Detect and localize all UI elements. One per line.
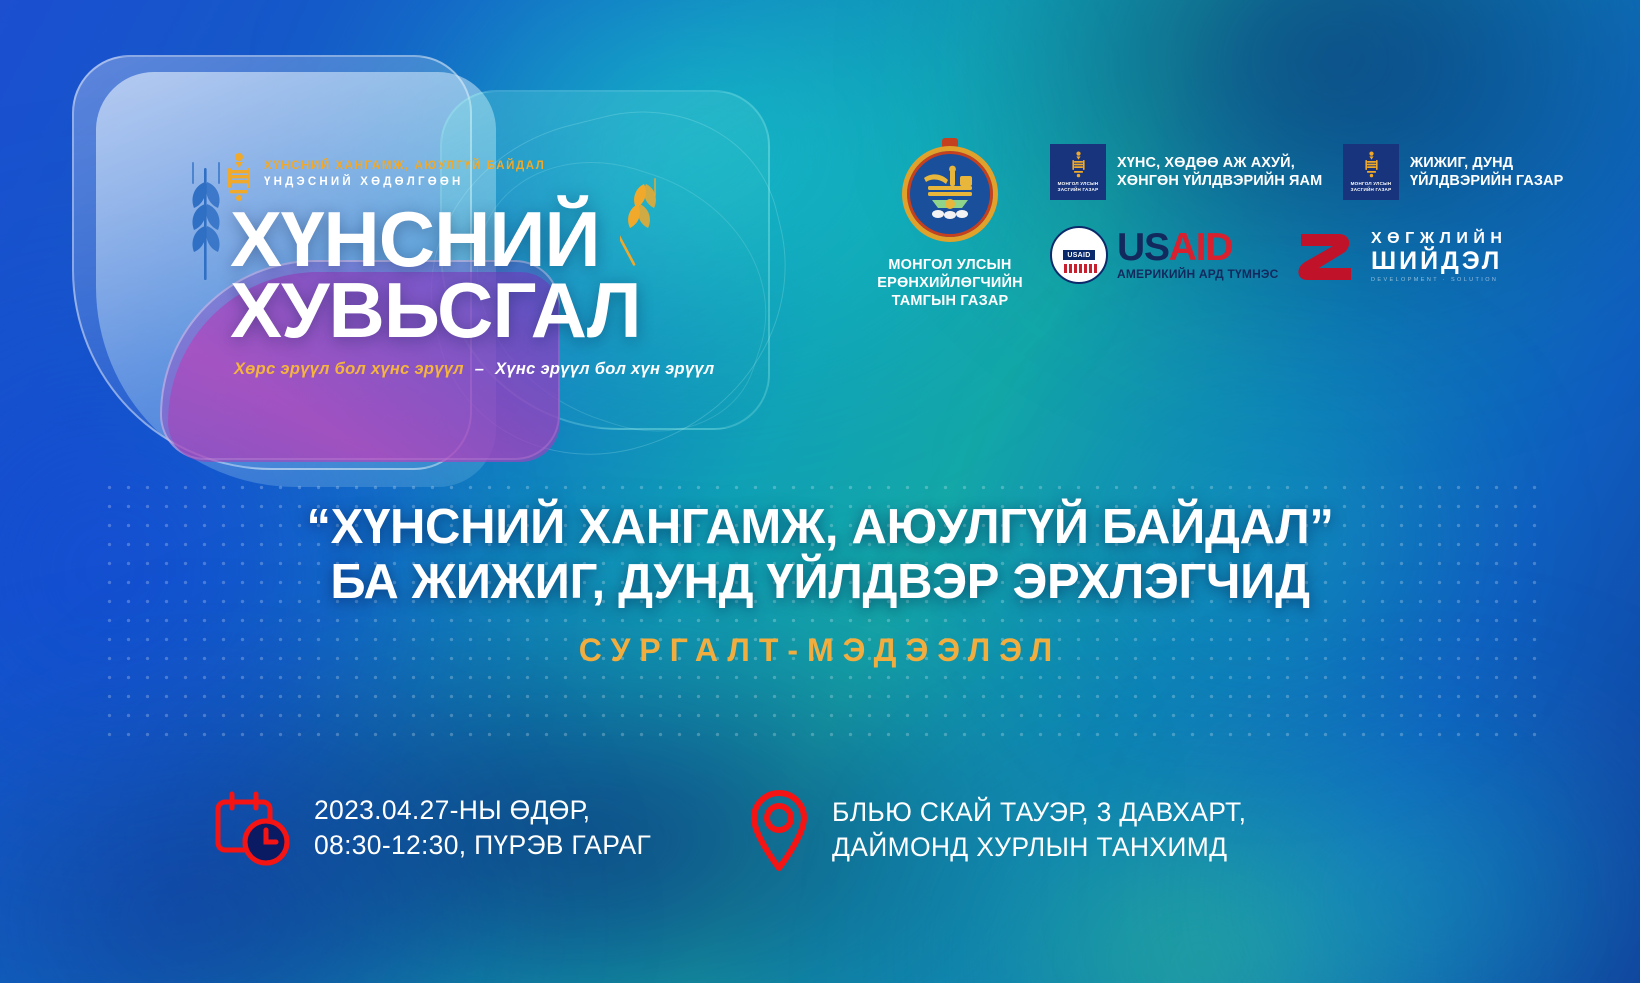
- development-solution-logo-icon: [1297, 228, 1363, 286]
- event-place-line-1: БЛЬЮ СКАЙ ТАУЭР, 3 ДАВХАРТ,: [832, 795, 1246, 830]
- usaid-seal-stripes: [1064, 264, 1098, 273]
- badge-text: МОНГОЛ УЛСЫН ЗАСГИЙН ГАЗАР: [1351, 181, 1392, 193]
- brand-logo-block: ХҮНСНИЙ ХАНГАМЖ, АЮУЛГҮЙ БАЙДАЛ ҮНДЭСНИЙ…: [182, 150, 702, 379]
- khogjliin-shiidel-text: ХӨГЖЛИЙН ШИЙДЭЛ DEVELOPMENT · SOLUTION: [1371, 231, 1507, 282]
- partner-ministry-food-agriculture: МОНГОЛ УЛСЫН ЗАСГИЙН ГАЗАР ХҮНС, ХӨДӨӨ А…: [1050, 144, 1322, 200]
- headline-block: “ХҮНСНИЙ ХАНГАМЖ, АЮУЛГҮЙ БАЙДАЛ” БА ЖИЖ…: [0, 500, 1640, 669]
- khog-line-2: ШИЙДЭЛ: [1371, 248, 1507, 274]
- partner-khogjliin-shiidel: ХӨГЖЛИЙН ШИЙДЭЛ DEVELOPMENT · SOLUTION: [1297, 228, 1507, 286]
- partner-label: ЖИЖИГ, ДУНД ҮЙЛДВЭРИЙН ГАЗАР: [1410, 154, 1563, 191]
- partner-president-office: МОНГОЛ УЛСЫН ЕРӨНХИЙЛӨГЧИЙН ТАМГЫН ГАЗАР: [865, 138, 1035, 311]
- usaid-seal-text: USAID: [1063, 250, 1094, 260]
- partner-sme-agency: МОНГОЛ УЛСЫН ЗАСГИЙН ГАЗАР ЖИЖИГ, ДУНД Ү…: [1343, 144, 1563, 200]
- caption-line-2: ЕРӨНХИЙЛӨГЧИЙН: [865, 275, 1035, 293]
- event-place-text: БЛЬЮ СКАЙ ТАУЭР, 3 ДАВХАРТ, ДАЙМОНД ХУРЛ…: [832, 795, 1246, 865]
- badge-text: МОНГОЛ УЛСЫН ЗАСГИЙН ГАЗАР: [1058, 181, 1099, 193]
- usaid-word-aid: AID: [1169, 226, 1233, 269]
- usaid-word: USAID: [1117, 229, 1279, 266]
- event-poster: ХҮНСНИЙ ХАНГАМЖ, АЮУЛГҮЙ БАЙДАЛ ҮНДЭСНИЙ…: [0, 0, 1640, 983]
- map-pin-icon: [748, 788, 810, 872]
- event-place-line-2: ДАЙМОНД ХУРЛЫН ТАНХИМД: [832, 830, 1246, 865]
- partner-president-office-caption: МОНГОЛ УЛСЫН ЕРӨНХИЙЛӨГЧИЙН ТАМГЫН ГАЗАР: [865, 257, 1035, 311]
- usaid-word-us: US: [1117, 226, 1169, 269]
- slogan-gold-part: Хөрс эрүүл бол хүнс эрүүл: [234, 360, 464, 378]
- soyombo-icon: [226, 152, 252, 204]
- gold-wheat-icon: [620, 178, 666, 270]
- headline-line-2: БА ЖИЖИГ, ДУНД ҮЙЛДВЭР ЭРХЛЭГЧИД: [0, 555, 1640, 610]
- badge-line-2: ЗАСГИЙН ГАЗАР: [1351, 187, 1392, 193]
- government-badge-icon: МОНГОЛ УЛСЫН ЗАСГИЙН ГАЗАР: [1050, 144, 1106, 200]
- event-date-line-1: 2023.04.27-НЫ ӨДӨР,: [314, 793, 651, 828]
- brand-slogan: Хөрс эрүүл бол хүнс эрүүл – Хүнс эрүүл б…: [234, 360, 702, 379]
- movement-tagline-1: ХҮНСНИЙ ХАНГАМЖ, АЮУЛГҮЙ БАЙДАЛ: [264, 160, 545, 172]
- mongolia-state-emblem-icon: [902, 138, 998, 250]
- wheat-stalk-icon: [184, 160, 228, 285]
- khog-line-1: ХӨГЖЛИЙН: [1371, 231, 1507, 247]
- khog-line-3: DEVELOPMENT · SOLUTION: [1371, 277, 1507, 283]
- soyombo-icon: [1365, 151, 1378, 178]
- label-line-2: ҮЙЛДВЭРИЙН ГАЗАР: [1410, 172, 1563, 190]
- caption-line-1: МОНГОЛ УЛСЫН: [865, 257, 1035, 275]
- usaid-seal-icon: USAID: [1050, 226, 1108, 284]
- partner-logos: МОНГОЛ УЛСЫН ЕРӨНХИЙЛӨГЧИЙН ТАМГЫН ГАЗАР: [845, 138, 1585, 318]
- label-line-1: ХҮНС, ХӨДӨӨ АЖ АХУЙ,: [1117, 154, 1322, 172]
- slogan-white-part: Хүнс эрүүл бол хүн эрүүл: [495, 360, 714, 378]
- usaid-wordmark: USAID АМЕРИКИЙН АРД ТҮМНЭС: [1117, 229, 1279, 281]
- government-badge-icon: МОНГОЛ УЛСЫН ЗАСГИЙН ГАЗАР: [1343, 144, 1399, 200]
- footer-info: 2023.04.27-НЫ ӨДӨР, 08:30-12:30, ПҮРЭВ Г…: [0, 782, 1640, 902]
- partner-usaid: USAID USAID АМЕРИКИЙН АРД ТҮМНЭС: [1050, 226, 1279, 284]
- partner-label: ХҮНС, ХӨДӨӨ АЖ АХУЙ, ХӨНГӨН ҮЙЛДВЭРИЙН Я…: [1117, 154, 1322, 191]
- brand-title-line2: ХУВЬСГАЛ: [230, 277, 702, 344]
- label-line-2: ХӨНГӨН ҮЙЛДВЭРИЙН ЯАМ: [1117, 172, 1322, 190]
- badge-line-2: ЗАСГИЙН ГАЗАР: [1058, 187, 1099, 193]
- emblem-detail: [920, 164, 980, 222]
- slogan-dash: –: [469, 360, 490, 378]
- event-date-block: 2023.04.27-НЫ ӨДӨР, 08:30-12:30, ПҮРЭВ Г…: [212, 788, 651, 868]
- usaid-subtitle: АМЕРИКИЙН АРД ТҮМНЭС: [1117, 267, 1279, 281]
- caption-line-3: ТАМГЫН ГАЗАР: [865, 293, 1035, 311]
- event-place-block: БЛЬЮ СКАЙ ТАУЭР, 3 ДАВХАРТ, ДАЙМОНД ХУРЛ…: [748, 788, 1246, 872]
- headline-line-1: “ХҮНСНИЙ ХАНГАМЖ, АЮУЛГҮЙ БАЙДАЛ”: [0, 500, 1640, 555]
- movement-tagline-2: ҮНДЭСНИЙ ХӨДӨЛГӨӨН: [264, 176, 545, 188]
- label-line-1: ЖИЖИГ, ДУНД: [1410, 154, 1563, 172]
- headline-subtitle: СУРГАЛТ-МЭДЭЭЛЭЛ: [0, 632, 1640, 669]
- event-date-line-2: 08:30-12:30, ПҮРЭВ ГАРАГ: [314, 828, 651, 863]
- soyombo-icon: [1072, 151, 1085, 178]
- event-date-text: 2023.04.27-НЫ ӨДӨР, 08:30-12:30, ПҮРЭВ Г…: [314, 793, 651, 863]
- calendar-clock-icon: [212, 788, 292, 868]
